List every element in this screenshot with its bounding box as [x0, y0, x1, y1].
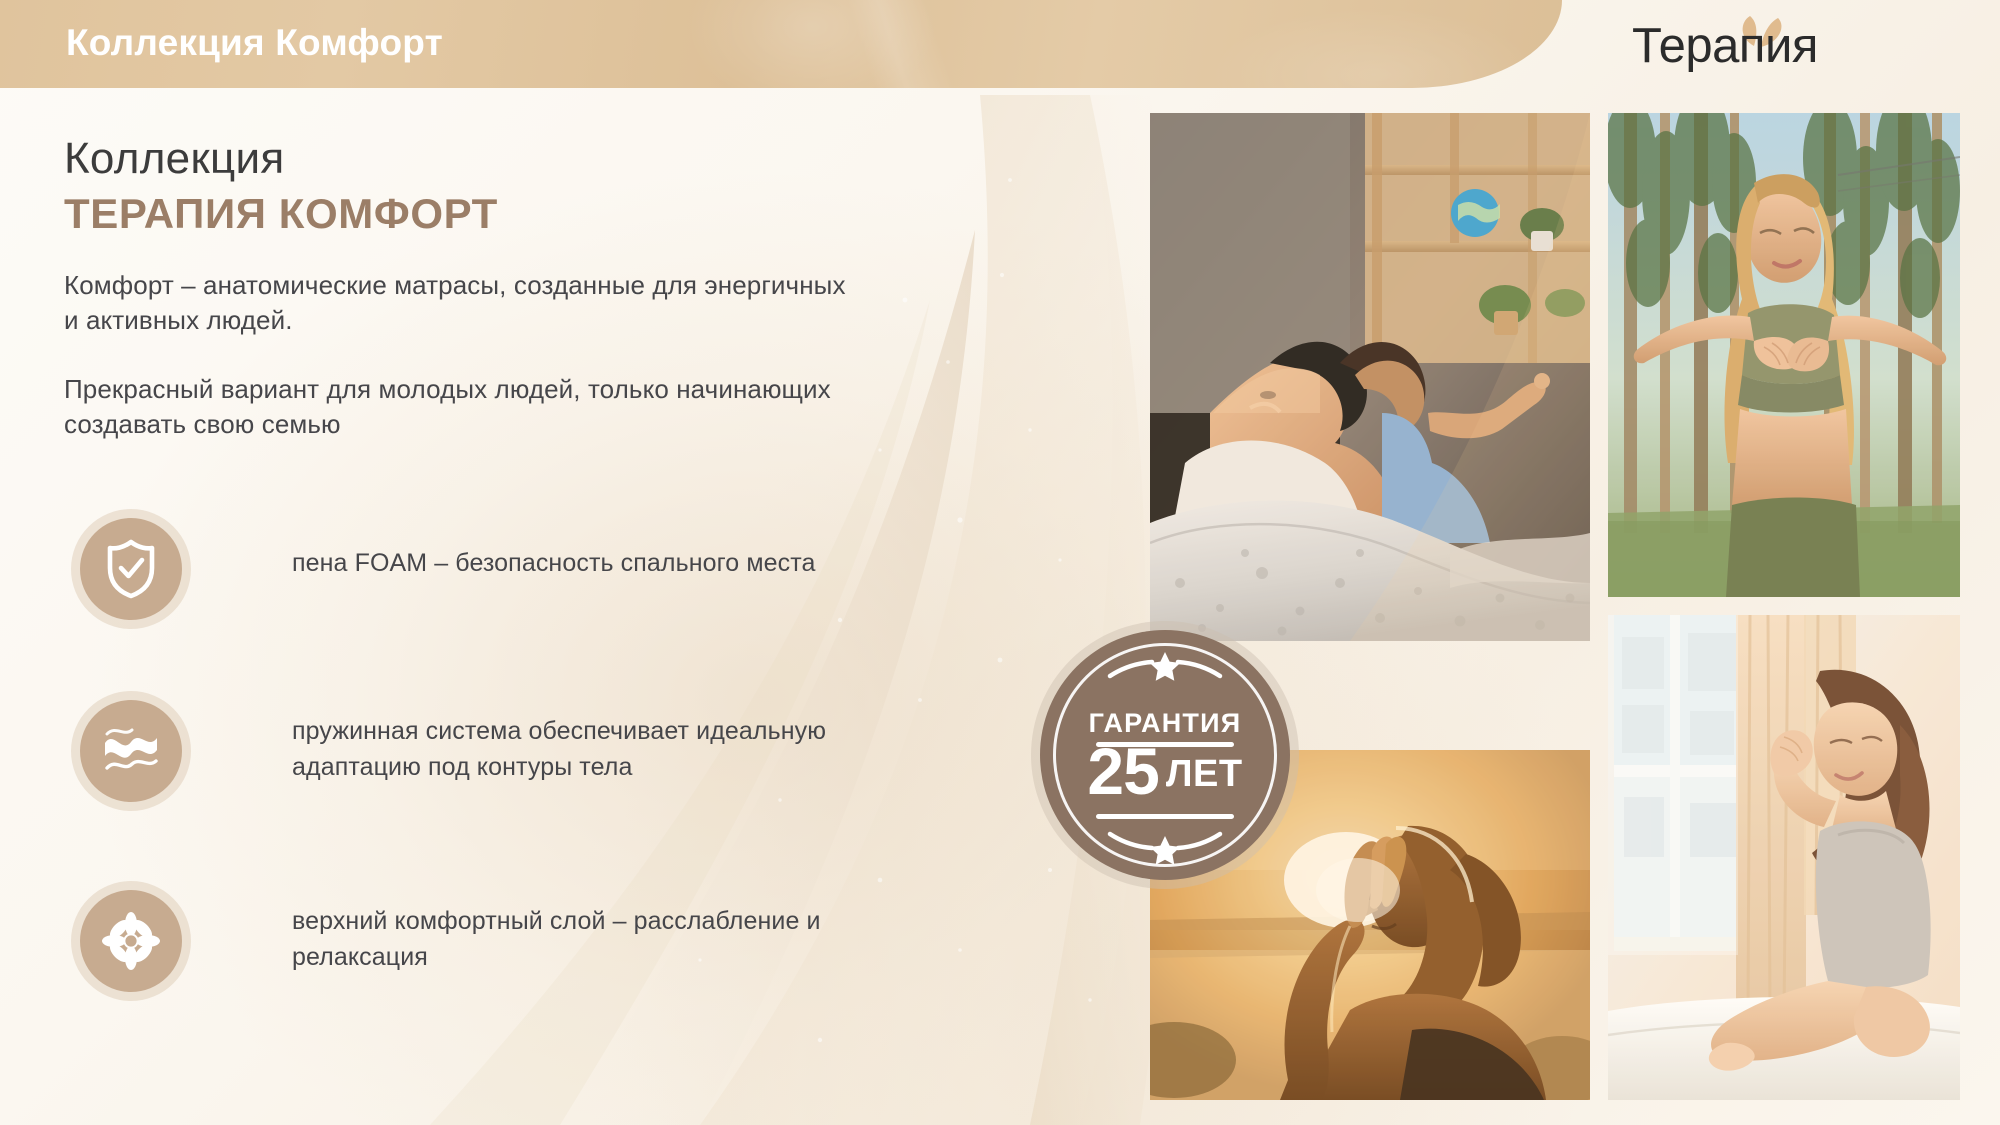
collection-title-line1: Коллекция — [64, 134, 285, 184]
feature-icon-badge — [80, 518, 182, 620]
brand-logo: Терапия — [1632, 16, 1900, 78]
feature-label: верхний комфортный слой – расслабление и… — [292, 904, 932, 975]
page-title: Коллекция Комфорт — [66, 22, 443, 64]
woman-sitting-by-window-photo — [1608, 615, 1960, 1100]
badge-years-value: 25 — [1087, 740, 1158, 803]
woman-forest-breathing-photo — [1608, 113, 1960, 597]
badge-guarantee-label: ГАРАНТИЯ — [1040, 708, 1290, 739]
shield-check-icon — [104, 539, 158, 599]
collection-title-line2: ТЕРАПИЯ КОМФОРТ — [64, 190, 498, 238]
slide-canvas: Коллекция Комфорт Терапия Коллекция ТЕРА… — [0, 0, 2000, 1125]
feature-icon-badge — [80, 890, 182, 992]
wave-icon — [100, 724, 162, 778]
feature-icon-badge — [80, 700, 182, 802]
badge-years-row: 25 ЛЕТ — [1040, 740, 1290, 803]
logo-wordmark: Терапия — [1632, 22, 1818, 71]
feature-label: пена FOAM – безопасность спального места — [292, 546, 932, 582]
lotus-flower-icon — [102, 912, 160, 970]
description-paragraph-1: Комфорт – анатомические матрасы, созданн… — [64, 268, 864, 338]
couple-in-bed-photo — [1150, 113, 1590, 641]
feature-label: пружинная система обеспечивает идеальную… — [292, 714, 932, 785]
badge-years-unit: ЛЕТ — [1166, 753, 1243, 796]
guarantee-badge: ГАРАНТИЯ 25 ЛЕТ — [1040, 630, 1290, 880]
description-paragraph-2: Прекрасный вариант для молодых людей, то… — [64, 372, 864, 442]
